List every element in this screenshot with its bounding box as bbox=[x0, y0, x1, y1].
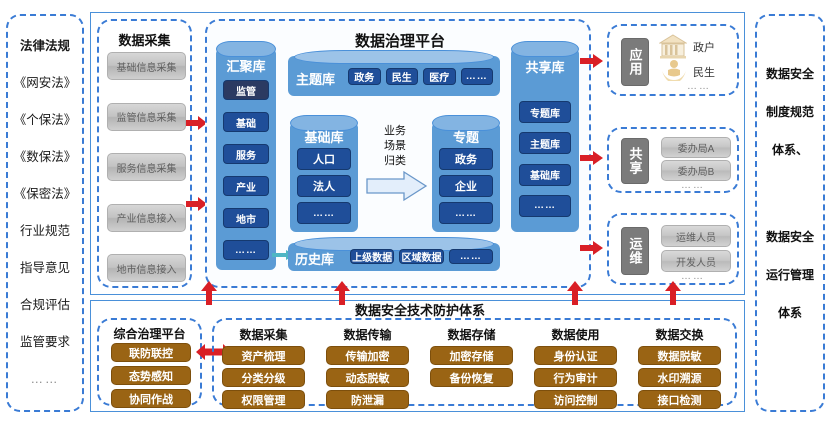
security-col-4-item-2[interactable]: 接口检测 bbox=[638, 390, 721, 409]
share-pill-0[interactable]: 委办局A bbox=[661, 137, 731, 158]
security-measures-panel: 数据采集 资产梳理 分类分级 权限管理 数据传输 传输加密 动态脱敏 防泄漏 数… bbox=[212, 318, 737, 406]
arrow-to-application bbox=[580, 53, 604, 69]
legal-item-7: 合规评估 bbox=[8, 299, 82, 312]
security-line-2: 体系、 bbox=[757, 144, 823, 156]
security-line-0: 数据安全 bbox=[757, 68, 823, 80]
subject-item-0[interactable]: 政务 bbox=[439, 148, 493, 170]
arrow-label-1: 场景 bbox=[372, 139, 418, 154]
subject-db-label: 专题 bbox=[432, 127, 500, 146]
history-item-2: …… bbox=[449, 249, 493, 264]
application-label-0: 政户 bbox=[693, 39, 715, 55]
arrow-label-2: 归类 bbox=[372, 154, 418, 169]
legal-item-4: 《保密法》 bbox=[8, 188, 82, 201]
legal-item-1: 《网安法》 bbox=[8, 77, 82, 90]
data-collection-panel: 数据采集 基础信息采集 监管信息采集 服务信息采集 产业信息接入 地市信息接入 bbox=[97, 19, 192, 288]
application-card: 应用 政户 民生 …… bbox=[607, 24, 739, 96]
history-db-bar: 历史库 上级数据 区域数据 …… bbox=[288, 243, 500, 271]
security-col-2-item-1[interactable]: 备份恢复 bbox=[430, 368, 513, 387]
history-db-label: 历史库 bbox=[295, 249, 334, 268]
security-col-1-item-2[interactable]: 防泄漏 bbox=[326, 390, 409, 409]
collection-item-3[interactable]: 产业信息接入 bbox=[107, 204, 186, 232]
share-tag: 共享 bbox=[621, 138, 649, 184]
security-col-3-item-2[interactable]: 访问控制 bbox=[534, 390, 617, 409]
flow-arrow-icon bbox=[366, 170, 428, 202]
legal-item-6: 指导意见 bbox=[8, 262, 82, 275]
aggregate-db-cylinder: 汇聚库 监管 基础 服务 产业 地市 …… bbox=[216, 48, 276, 270]
application-tag: 应用 bbox=[621, 38, 649, 86]
aggregate-item-1[interactable]: 基础 bbox=[223, 112, 269, 132]
security-col-0-item-2[interactable]: 权限管理 bbox=[222, 390, 305, 409]
security-col-1-title: 数据传输 bbox=[320, 326, 415, 343]
ops-pill-1[interactable]: 开发人员 bbox=[661, 250, 731, 272]
arrow-label-0: 业务 bbox=[372, 124, 418, 139]
base-item-1[interactable]: 法人 bbox=[297, 175, 351, 197]
base-db-label: 基础库 bbox=[290, 127, 358, 146]
security-col-3-item-0[interactable]: 身份认证 bbox=[534, 346, 617, 365]
aggregate-item-2[interactable]: 服务 bbox=[223, 144, 269, 164]
legal-item-5: 行业规范 bbox=[8, 225, 82, 238]
ops-card: 运维 运维人员 开发人员 …… bbox=[607, 213, 739, 285]
application-label-1: 民生 bbox=[693, 64, 715, 80]
ops-tag: 运维 bbox=[621, 227, 649, 275]
security-col-0-title: 数据采集 bbox=[216, 326, 311, 343]
aggregate-item-0[interactable]: 监管 bbox=[223, 80, 269, 100]
arrow-up-collection bbox=[200, 281, 218, 305]
ops-dots: …… bbox=[681, 271, 705, 282]
history-item-0[interactable]: 上级数据 bbox=[350, 249, 394, 264]
ops-pill-0[interactable]: 运维人员 bbox=[661, 225, 731, 247]
share-item-3: …… bbox=[519, 195, 571, 217]
legal-item-8: 监管要求 bbox=[8, 336, 82, 349]
comprehensive-platform-title: 综合治理平台 bbox=[99, 325, 200, 342]
theme-item-3: …… bbox=[461, 68, 494, 85]
history-item-1[interactable]: 区域数据 bbox=[399, 249, 443, 264]
theme-db-label: 主题库 bbox=[296, 69, 335, 88]
security-system-panel: 数据安全 制度规范 体系、 数据安全 运行管理 体系 bbox=[755, 14, 825, 412]
legal-item-2: 《个保法》 bbox=[8, 114, 82, 127]
aggregate-item-3[interactable]: 产业 bbox=[223, 176, 269, 196]
share-item-0[interactable]: 专题库 bbox=[519, 101, 571, 123]
subject-item-1[interactable]: 企业 bbox=[439, 175, 493, 197]
base-item-2: …… bbox=[297, 202, 351, 224]
security-col-1: 数据传输 传输加密 动态脱敏 防泄漏 bbox=[320, 326, 415, 412]
collection-item-2[interactable]: 服务信息采集 bbox=[107, 153, 186, 181]
share-db-label: 共享库 bbox=[511, 57, 579, 76]
legal-item-3: 《数保法》 bbox=[8, 151, 82, 164]
security-col-3-item-1[interactable]: 行为审计 bbox=[534, 368, 617, 387]
share-pill-1[interactable]: 委办局B bbox=[661, 160, 731, 181]
comprehensive-item-1[interactable]: 态势感知 bbox=[111, 366, 191, 385]
subject-db-cylinder: 专题 政务 企业 …… bbox=[432, 122, 500, 232]
legal-item-9: …… bbox=[8, 373, 82, 386]
application-dots: …… bbox=[687, 81, 711, 92]
aggregate-item-4[interactable]: 地市 bbox=[223, 208, 269, 228]
arrow-up-ops bbox=[664, 281, 682, 305]
base-db-cylinder: 基础库 人口 法人 …… bbox=[290, 122, 358, 232]
security-protection-title: 数据安全技术防护体系 bbox=[330, 300, 510, 319]
subject-item-2: …… bbox=[439, 202, 493, 224]
architecture-diagram: 法律法规 《网安法》 《个保法》 《数保法》 《保密法》 行业规范 指导意见 合… bbox=[0, 0, 830, 423]
theme-item-0[interactable]: 政务 bbox=[348, 68, 381, 85]
base-item-0[interactable]: 人口 bbox=[297, 148, 351, 170]
share-item-1[interactable]: 主题库 bbox=[519, 132, 571, 154]
security-line-3: 数据安全 bbox=[757, 231, 823, 243]
security-col-2-item-0[interactable]: 加密存储 bbox=[430, 346, 513, 365]
share-card: 共享 委办局A 委办局B …… bbox=[607, 127, 739, 193]
comprehensive-item-2[interactable]: 协同作战 bbox=[111, 389, 191, 408]
theme-item-1[interactable]: 民生 bbox=[386, 68, 419, 85]
collection-item-1[interactable]: 监管信息采集 bbox=[107, 103, 186, 131]
security-col-1-item-0[interactable]: 传输加密 bbox=[326, 346, 409, 365]
security-line-1: 制度规范 bbox=[757, 106, 823, 118]
security-col-4: 数据交换 数据脱敏 水印溯源 接口检测 bbox=[632, 326, 727, 412]
security-col-4-title: 数据交换 bbox=[632, 326, 727, 343]
security-line-4: 运行管理 bbox=[757, 269, 823, 281]
security-col-3-title: 数据使用 bbox=[528, 326, 623, 343]
government-building-icon bbox=[659, 33, 687, 59]
security-col-0: 数据采集 资产梳理 分类分级 权限管理 bbox=[216, 326, 311, 412]
theme-item-2[interactable]: 医疗 bbox=[423, 68, 456, 85]
comprehensive-item-0[interactable]: 联防联控 bbox=[111, 343, 191, 362]
security-col-0-item-0[interactable]: 资产梳理 bbox=[222, 346, 305, 365]
governance-platform-title: 数据治理平台 bbox=[320, 30, 480, 51]
theme-db-bar: 主题库 政务 民生 医疗 …… bbox=[288, 56, 500, 96]
share-dots: …… bbox=[681, 180, 705, 191]
legal-item-0: 法律法规 bbox=[8, 40, 82, 53]
collection-item-4[interactable]: 地市信息接入 bbox=[107, 254, 186, 282]
comprehensive-platform-panel: 综合治理平台 联防联控 态势感知 协同作战 bbox=[97, 318, 202, 406]
aggregate-item-5: …… bbox=[223, 240, 269, 260]
arrow-up-governance-right bbox=[566, 281, 584, 305]
aggregate-db-label: 汇聚库 bbox=[216, 56, 276, 75]
business-scene-label: 业务 场景 归类 bbox=[372, 124, 418, 169]
data-collection-title: 数据采集 bbox=[99, 30, 190, 49]
security-col-3: 数据使用 身份认证 行为审计 访问控制 bbox=[528, 326, 623, 412]
share-db-cylinder: 共享库 专题库 主题库 基础库 …… bbox=[511, 48, 579, 232]
arrow-to-ops bbox=[580, 240, 604, 256]
laws-and-regulations-panel: 法律法规 《网安法》 《个保法》 《数保法》 《保密法》 行业规范 指导意见 合… bbox=[6, 14, 84, 412]
collection-item-0[interactable]: 基础信息采集 bbox=[107, 52, 186, 80]
security-col-2-title: 数据存储 bbox=[424, 326, 519, 343]
arrow-to-share bbox=[580, 150, 604, 166]
security-col-2: 数据存储 加密存储 备份恢复 bbox=[424, 326, 519, 390]
security-line-5: 体系 bbox=[757, 307, 823, 319]
security-col-1-item-1[interactable]: 动态脱敏 bbox=[326, 368, 409, 387]
security-col-4-item-1[interactable]: 水印溯源 bbox=[638, 368, 721, 387]
security-col-0-item-1[interactable]: 分类分级 bbox=[222, 368, 305, 387]
share-item-2[interactable]: 基础库 bbox=[519, 164, 571, 186]
people-care-icon bbox=[661, 59, 687, 81]
security-col-4-item-0[interactable]: 数据脱敏 bbox=[638, 346, 721, 365]
